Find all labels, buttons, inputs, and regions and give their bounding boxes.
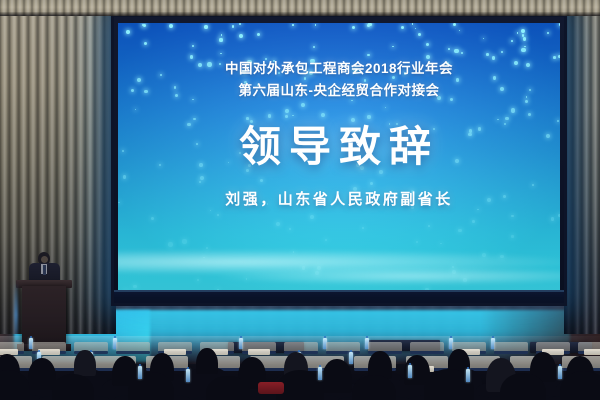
stage-valance <box>0 0 600 16</box>
audience-head <box>196 348 218 374</box>
seat-back <box>284 342 318 351</box>
water-bottle <box>466 369 470 382</box>
speaker-necktie <box>43 265 46 275</box>
water-bottle <box>408 365 412 378</box>
slide-presenter-name: 刘强，山东省人民政府副省长 <box>118 188 560 209</box>
led-screen-frame: 中国对外承包工程商会2018行业年会 第六届山东-央企经贸合作对接会 领导致辞 … <box>111 14 567 306</box>
led-screen-surface: 中国对外承包工程商会2018行业年会 第六届山东-央企经贸合作对接会 领导致辞 … <box>118 23 560 291</box>
audience-red-garment <box>258 382 284 394</box>
seat-back <box>410 342 444 351</box>
stage-curtain-right <box>564 12 600 334</box>
audience-head-front <box>0 370 30 400</box>
seat-back <box>326 342 360 351</box>
slide-headline: 领导致辞 <box>118 113 560 174</box>
slide-organization-line: 中国对外承包工程商会2018行业年会 <box>118 57 560 77</box>
slide-event-line: 第六届山东-央企经贸合作对接会 <box>118 79 560 99</box>
curtain-right-shadow <box>564 12 590 334</box>
seat-frame-rail <box>494 351 528 354</box>
screen-bottom-bezel <box>114 290 564 303</box>
audience-area <box>0 336 600 400</box>
audience-head <box>74 350 96 376</box>
seat-frame-rail <box>326 351 360 354</box>
seat-frame-rail <box>410 351 444 354</box>
delegate-name-card <box>584 349 600 355</box>
water-bottle <box>318 367 322 380</box>
seat-back <box>494 342 528 351</box>
water-bottle <box>138 366 142 379</box>
water-bottle <box>558 366 562 379</box>
seat-frame-rail <box>116 351 150 354</box>
seat-back <box>368 342 402 351</box>
water-bottle <box>186 369 190 382</box>
delegate-name-card <box>248 349 270 355</box>
delegate-name-card <box>38 349 60 355</box>
seat-back <box>116 342 150 351</box>
audience-head-front <box>206 376 250 400</box>
audience-head <box>322 359 352 393</box>
speaker-face <box>41 256 48 263</box>
audience-head <box>28 358 56 390</box>
conference-photo-scene: 中国对外承包工程商会2018行业年会 第六届山东-央企经贸合作对接会 领导致辞 … <box>0 0 600 400</box>
slide-text-block: 中国对外承包工程商会2018行业年会 第六届山东-央企经贸合作对接会 领导致辞 … <box>118 23 560 291</box>
water-bottle <box>349 352 353 364</box>
